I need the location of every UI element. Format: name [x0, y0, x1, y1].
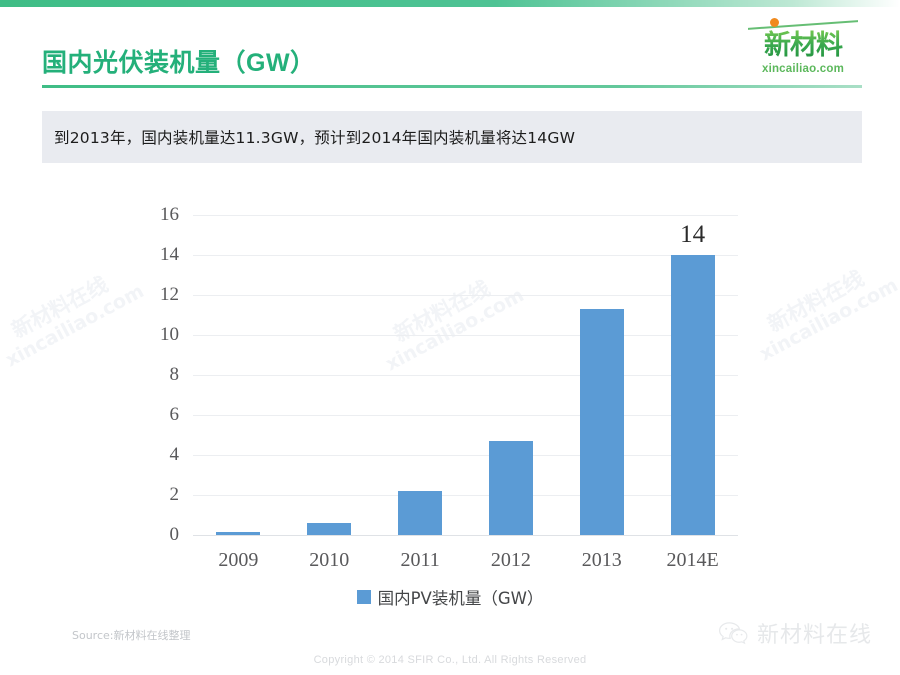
logo-website-url: xincailiao.com [742, 63, 864, 75]
copyright-notice: Copyright © 2014 SFIR Co., Ltd. All Righ… [0, 654, 900, 666]
chart-gridline: 16 [193, 215, 738, 216]
y-axis-tick-label: 0 [170, 524, 180, 546]
title-underline-rule [42, 85, 862, 88]
brand-logo: 新材料 xincailiao.com [742, 21, 864, 83]
wechat-badge: 新材料在线 [718, 617, 872, 649]
legend-label: 国内PV装机量（GW） [378, 585, 544, 609]
x-axis-tick-label: 2009 [218, 549, 258, 572]
logo-mark: 新材料 [742, 21, 864, 65]
chart-plot-area: 161412108642020092010201120122013142014E [193, 215, 738, 535]
y-axis-tick-label: 4 [170, 444, 180, 466]
chart-bar-slot: 2013 [580, 215, 624, 535]
chart-gridline: 12 [193, 295, 738, 296]
x-axis-tick-label: 2010 [309, 549, 349, 572]
chart-bar-value-label: 14 [680, 221, 705, 249]
chart-bar-slot: 2012 [489, 215, 533, 535]
wechat-label: 新材料在线 [757, 617, 872, 649]
y-axis-tick-label: 6 [170, 404, 180, 426]
chart-bar-slot: 142014E [671, 215, 715, 535]
chart-bar-slot: 2009 [216, 215, 260, 535]
chart-bar-slot: 2010 [307, 215, 351, 535]
x-axis-tick-label: 2014E [666, 549, 718, 572]
wechat-icon [718, 621, 748, 645]
chart-gridline: 4 [193, 455, 738, 456]
source-note: Source:新材料在线整理 [72, 627, 191, 643]
x-axis-tick-label: 2011 [400, 549, 439, 572]
y-axis-tick-label: 8 [170, 364, 180, 386]
top-accent-strip [0, 0, 900, 7]
legend-swatch-icon [357, 590, 371, 604]
chart-gridline: 0 [193, 535, 738, 536]
chart-bar[interactable] [580, 309, 624, 535]
x-axis-tick-label: 2013 [582, 549, 622, 572]
y-axis-tick-label: 10 [160, 324, 179, 346]
chart-legend: 国内PV装机量（GW） [0, 585, 900, 609]
y-axis-tick-label: 2 [170, 484, 180, 506]
y-axis-tick-label: 12 [160, 284, 179, 306]
chart-gridline: 8 [193, 375, 738, 376]
page-title: 国内光伏装机量（GW） [42, 43, 316, 79]
top-accent-strip-gradient [0, 0, 900, 7]
y-axis-tick-label: 14 [160, 244, 179, 266]
chart-bar-slot: 2011 [398, 215, 442, 535]
x-axis-tick-label: 2012 [491, 549, 531, 572]
chart-bar[interactable] [489, 441, 533, 535]
subtitle-banner: 到2013年，国内装机量达11.3GW，预计到2014年国内装机量将达14GW [42, 111, 862, 163]
subtitle-text: 到2013年，国内装机量达11.3GW，预计到2014年国内装机量将达14GW [42, 126, 575, 148]
chart-gridline: 2 [193, 495, 738, 496]
chart-bar[interactable]: 14 [671, 255, 715, 535]
chart-bar[interactable] [307, 523, 351, 535]
page-header: 国内光伏装机量（GW） 新材料 xincailiao.com [0, 7, 900, 92]
chart-gridline: 10 [193, 335, 738, 336]
bar-chart: 161412108642020092010201120122013142014E [0, 195, 900, 615]
chart-gridline: 14 [193, 255, 738, 256]
chart-bar[interactable] [216, 532, 260, 535]
logo-brand-name: 新材料 [742, 23, 864, 62]
y-axis-tick-label: 16 [160, 204, 179, 226]
chart-gridline: 6 [193, 415, 738, 416]
chart-bar[interactable] [398, 491, 442, 535]
